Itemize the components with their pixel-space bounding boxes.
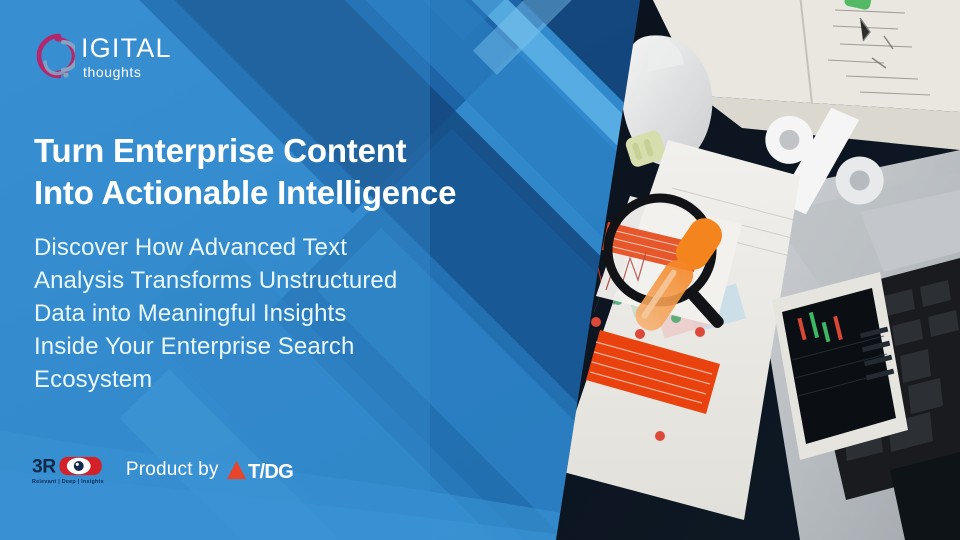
product-by-label: Product by <box>126 459 219 481</box>
brand-3rdi-logo[interactable]: 3R Relevant | Deep | Insights <box>32 455 104 485</box>
logo-sub-text: thoughts <box>83 65 172 79</box>
subheadline-line-5: Ecosystem <box>34 364 554 397</box>
brand-3rdi-tagline: Relevant | Deep | Insights <box>32 479 104 485</box>
svg-text:T/DG: T/DG <box>248 461 293 482</box>
tdg-logo-svg: T/DG <box>226 459 318 482</box>
digital-thoughts-logo[interactable]: IGITAL thoughts <box>33 30 172 82</box>
footer-logos: 3R Relevant | Deep | Insights Product by… <box>32 455 318 485</box>
subheadline-line-3: Data into Meaningful Insights <box>34 298 554 331</box>
subheadline-line-2: Analysis Transforms Unstructured <box>34 265 554 298</box>
logo-main-text: IGITAL <box>81 35 172 62</box>
subheadline-line-1: Discover How Advanced Text <box>34 232 554 265</box>
subheadline: Discover How Advanced Text Analysis Tran… <box>34 232 554 396</box>
digital-thoughts-d-arc-mark <box>33 30 75 82</box>
headline-line-2: Into Actionable Intelligence <box>34 172 579 214</box>
promo-banner: IGITAL thoughts Turn Enterprise Content … <box>0 0 960 540</box>
brand-3rdi-wordmark-svg: 3R <box>32 455 104 477</box>
red-triangle-icon <box>227 460 246 478</box>
logo-wordmark: IGITAL thoughts <box>81 33 172 79</box>
product-by-block[interactable]: Product by T/DG <box>126 459 318 482</box>
headline: Turn Enterprise Content Into Actionable … <box>34 130 579 213</box>
subheadline-line-4: Inside Your Enterprise Search <box>34 331 554 364</box>
headline-line-1: Turn Enterprise Content <box>34 130 579 172</box>
svg-text:3R: 3R <box>32 456 56 477</box>
brand-3rdi-mark-row: 3R <box>32 455 104 477</box>
banner-content: IGITAL thoughts Turn Enterprise Content … <box>0 0 600 540</box>
